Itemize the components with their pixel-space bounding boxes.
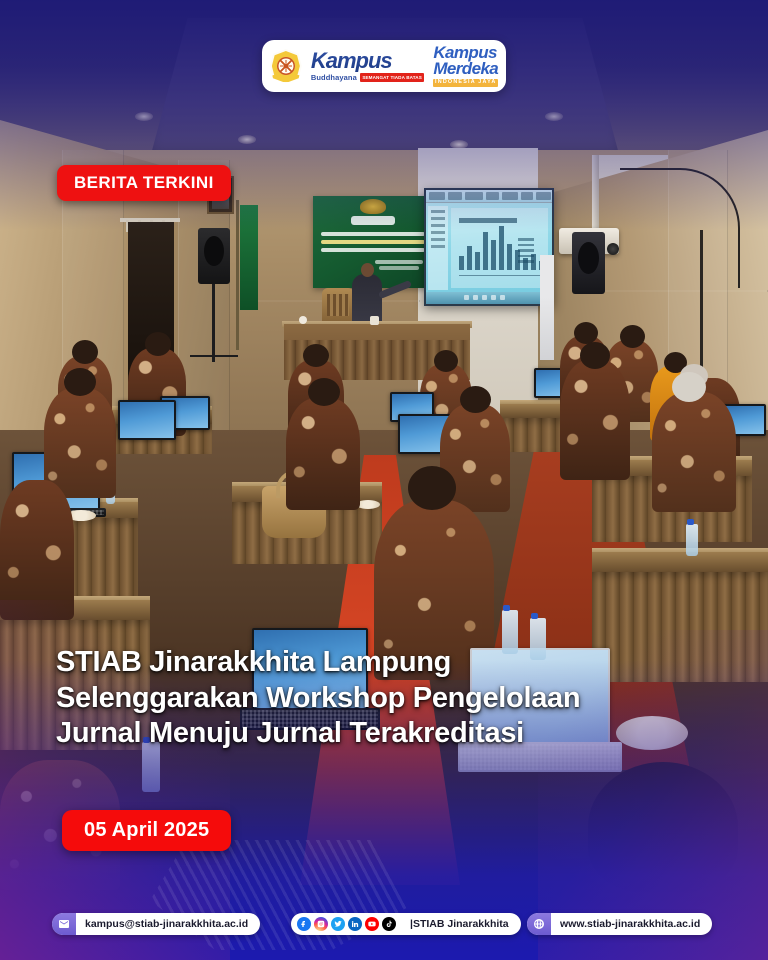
attendee [44, 388, 116, 498]
banner-logo [351, 216, 395, 225]
attendee-head [460, 386, 491, 413]
email-text: kampus@stiab-jinarakkhita.ac.id [76, 918, 260, 930]
slide-axis [459, 275, 540, 276]
cup [370, 316, 379, 325]
headline: STIAB Jinarakkhita Lampung Selenggarakan… [56, 645, 708, 752]
website-text: www.stiab-jinarakkhita.ac.id [551, 918, 712, 930]
attendee-head [620, 325, 645, 348]
linkedin-icon[interactable] [348, 917, 362, 931]
logo-bar: Kampus Buddhayana SEMANGAT TIADA BATAS K… [262, 40, 506, 92]
attendee [0, 480, 74, 620]
tiktok-icon[interactable] [382, 917, 396, 931]
attendee-head [303, 344, 329, 367]
slide-legend [518, 238, 534, 266]
attendee [560, 360, 630, 480]
attendee [652, 392, 736, 512]
attendee-head [308, 378, 340, 406]
wall-trim [600, 290, 768, 292]
attendee-head [72, 340, 98, 364]
banner-text-line [321, 248, 425, 252]
indonesian-flag [540, 255, 554, 360]
attendee [286, 398, 360, 510]
slide-canvas [451, 208, 548, 288]
pa-speaker-left [198, 228, 230, 284]
ceiling-cable [620, 168, 740, 288]
cup [299, 316, 307, 324]
banner-text-line [321, 240, 425, 244]
social-icon-row [295, 917, 401, 931]
ceiling-light [545, 112, 563, 121]
speaker-tripod [190, 355, 238, 357]
globe-icon [527, 913, 551, 935]
attendee-head [145, 332, 171, 356]
headline-line-2: Selenggarakan Workshop Pengelolaan [56, 681, 708, 717]
youtube-icon[interactable] [365, 917, 379, 931]
slide-title [459, 218, 517, 223]
water-bottle [686, 524, 698, 556]
garuda-emblem-icon [360, 199, 386, 214]
facebook-icon[interactable] [297, 917, 311, 931]
email-chip[interactable]: kampus@stiab-jinarakkhita.ac.id [52, 913, 260, 935]
news-poster: Kampus Buddhayana SEMANGAT TIADA BATAS K… [0, 0, 768, 960]
social-chip[interactable]: |STIAB Jinarakkhita [291, 913, 521, 935]
kampus-merdeka-logo: Kampus Merdeka INDONESIA JAYA [433, 45, 498, 86]
slide-taskbar [426, 292, 552, 304]
website-chip[interactable]: www.stiab-jinarakkhita.ac.id [527, 913, 712, 935]
ceiling-light [238, 135, 256, 144]
headline-line-1: STIAB Jinarakkhita Lampung [56, 645, 708, 681]
banner-text-line [321, 232, 425, 236]
speaker-stand [212, 284, 215, 362]
attendee-head [408, 466, 456, 510]
kampus-buddhayana-word: Kampus [311, 50, 425, 72]
news-badge: BERITA TERKINI [57, 165, 231, 201]
social-handle: |STIAB Jinarakkhita [401, 918, 521, 930]
projector-screen [424, 188, 554, 306]
foreground-head [588, 762, 738, 892]
kampus-merdeka-tagline: INDONESIA JAYA [433, 79, 498, 87]
pa-speaker-right [572, 232, 605, 294]
kampus-buddhayana-subtitle: Buddhayana [311, 74, 357, 82]
attendee-head [672, 372, 706, 402]
attendee-head [434, 350, 458, 372]
laptop-screen [118, 400, 176, 440]
stiab-jinarakkhita-seal-icon [270, 49, 302, 83]
attendee-head [580, 342, 610, 369]
footer-bar: kampus@stiab-jinarakkhita.ac.id [0, 888, 768, 960]
slide-bar-chart [459, 224, 552, 270]
projector-mount [592, 155, 599, 233]
kampus-buddhayana-tagline: SEMANGAT TIADA BATAS [360, 73, 425, 81]
banner-text-line [375, 260, 423, 264]
projector-lens [607, 243, 619, 255]
slide-sidebar [428, 206, 448, 290]
twitter-icon[interactable] [331, 917, 345, 931]
ceiling-light [135, 112, 153, 121]
green-flag [240, 205, 258, 310]
date-badge: 05 April 2025 [62, 810, 231, 851]
email-icon [52, 913, 76, 935]
slide-toolbar [426, 190, 552, 203]
flag-pole [236, 200, 239, 350]
kampus-merdeka-line2: Merdeka [433, 61, 498, 77]
attendee-head [574, 322, 598, 344]
headline-line-3: Jurnal Menuju Jurnal Terakreditasi [56, 716, 708, 752]
kampus-buddhayana-logo: Kampus Buddhayana SEMANGAT TIADA BATAS [311, 50, 425, 81]
instagram-icon[interactable] [314, 917, 328, 931]
banner-text-line [379, 266, 419, 270]
attendee-head [64, 368, 96, 396]
